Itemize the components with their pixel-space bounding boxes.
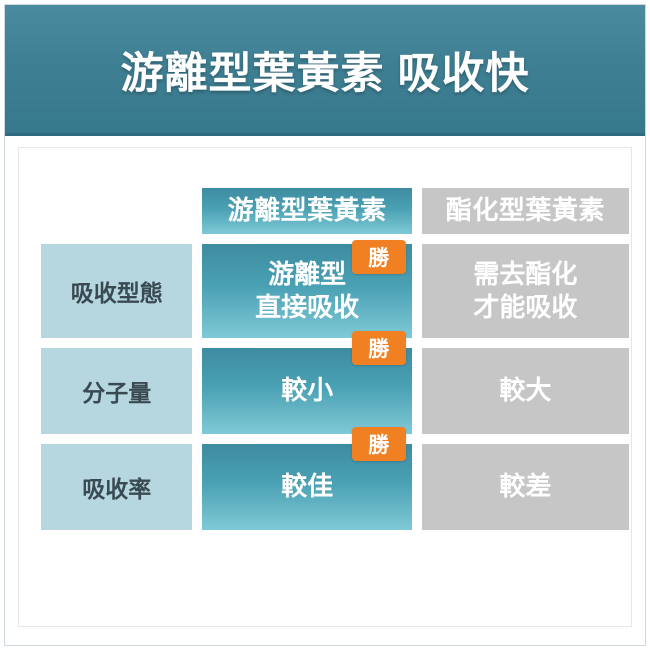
row-ester-text: 較差 <box>422 444 629 530</box>
row-free-line1: 游離型 <box>268 259 346 289</box>
comparison-table: 游離型葉黃素 酯化型葉黃素 吸收型態 游離型 直接吸收 <box>41 188 629 540</box>
free-form-header-label: 游離型葉黃素 <box>202 188 411 234</box>
win-badge: 勝 <box>352 331 406 365</box>
infographic-page: 游離型葉黃素 吸收快 游離型葉黃素 酯化型葉黃素 吸收型態 <box>0 0 650 650</box>
header-banner: 游離型葉黃素 吸收快 <box>5 5 645 135</box>
row-free-cell: 較佳 勝 <box>202 444 411 530</box>
row-label-cell: 吸收率 <box>41 444 192 530</box>
row-ester-line2: 才能吸收 <box>473 292 577 322</box>
ester-form-header-label: 酯化型葉黃素 <box>422 188 629 234</box>
table-row: 吸收率 較佳 勝 較差 <box>41 444 629 530</box>
row-ester-line1: 需去酯化 <box>473 259 577 289</box>
row-label-text: 吸收率 <box>41 444 192 530</box>
row-ester-cell: 較差 <box>422 444 629 530</box>
row-free-line2: 直接吸收 <box>255 292 359 322</box>
table-row: 吸收型態 游離型 直接吸收 勝 需去酯化 才能吸收 <box>41 244 629 338</box>
row-label-cell: 吸收型態 <box>41 244 192 338</box>
page-title: 游離型葉黃素 吸收快 <box>121 39 530 101</box>
row-ester-text: 需去酯化 才能吸收 <box>422 244 629 338</box>
table-header-row: 游離型葉黃素 酯化型葉黃素 <box>41 188 629 234</box>
row-ester-cell: 需去酯化 才能吸收 <box>422 244 629 338</box>
win-badge: 勝 <box>352 427 406 461</box>
row-free-cell: 較小 勝 <box>202 348 411 434</box>
row-label-text: 吸收型態 <box>41 244 192 338</box>
row-ester-cell: 較大 <box>422 348 629 434</box>
row-label-text: 分子量 <box>41 348 192 434</box>
row-label-cell: 分子量 <box>41 348 192 434</box>
header-cell-empty <box>41 188 192 234</box>
comparison-panel: 游離型葉黃素 酯化型葉黃素 吸收型態 游離型 直接吸收 <box>18 147 632 627</box>
header-cell-free: 游離型葉黃素 <box>202 188 411 234</box>
table-row: 分子量 較小 勝 較大 <box>41 348 629 434</box>
row-free-cell: 游離型 直接吸收 勝 <box>202 244 411 338</box>
header-underline <box>5 133 645 136</box>
row-ester-text: 較大 <box>422 348 629 434</box>
header-cell-ester: 酯化型葉黃素 <box>422 188 629 234</box>
win-badge: 勝 <box>352 240 406 274</box>
